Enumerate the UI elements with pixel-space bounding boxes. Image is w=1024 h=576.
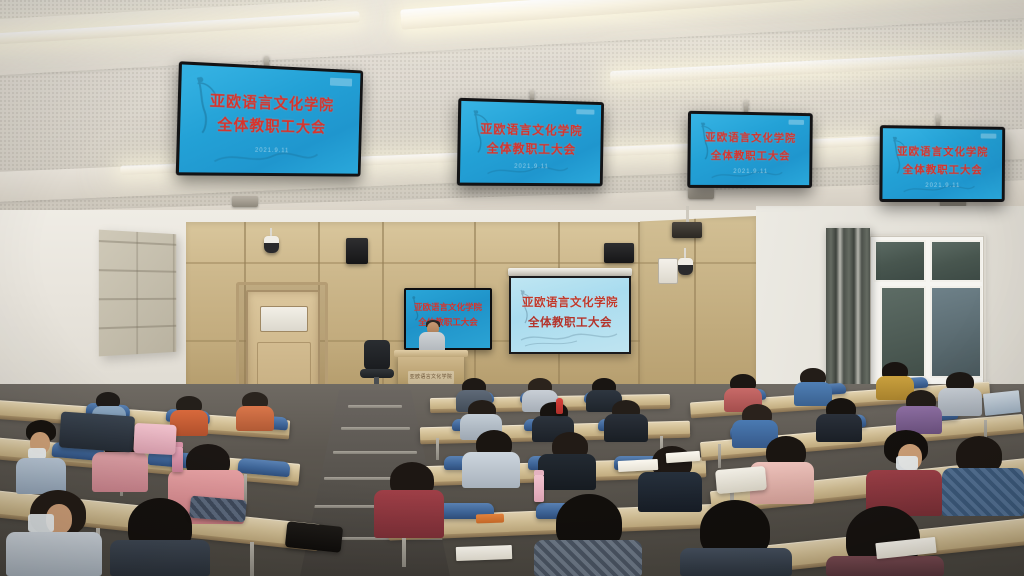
tv-screen-3: 亚欧语言文化学院 全体教职工大会 2021.9.11 xyxy=(687,111,813,188)
ink-wash-decoration-icon xyxy=(190,138,338,171)
tv3-date: 2021.9.11 xyxy=(690,169,809,176)
face-mask xyxy=(28,514,54,532)
laptop[interactable] xyxy=(983,390,1021,416)
projection-screen-housing xyxy=(508,268,632,276)
ceiling-vent-icon xyxy=(232,196,258,207)
tv2-title-line2: 全体教职工大会 xyxy=(460,138,600,157)
tv-logo-badge xyxy=(330,78,352,86)
acoustic-brick-panel xyxy=(99,230,176,357)
podium-monitor-line2: 全体教职工大会 xyxy=(406,316,490,328)
orange-pencil-case[interactable] xyxy=(476,514,504,524)
office-chair[interactable] xyxy=(364,340,390,370)
red-cup[interactable] xyxy=(556,398,563,414)
window-pane xyxy=(930,286,982,378)
white-bag[interactable] xyxy=(715,466,767,494)
door-panel xyxy=(257,342,311,390)
window-pane xyxy=(930,240,982,282)
tv4-title-line2: 全体教职工大会 xyxy=(883,161,1002,177)
projection-title-line2: 全体教职工大会 xyxy=(511,314,629,330)
tv2-title-line1: 亚欧语言文化学院 xyxy=(461,119,601,139)
tv3-title-line2: 全体教职工大会 xyxy=(691,147,810,163)
tv4-title-line1: 亚欧语言文化学院 xyxy=(883,144,1002,160)
tv-screen-2: 亚欧语言文化学院 全体教职工大会 2021.9.11 xyxy=(457,98,604,187)
notebook[interactable] xyxy=(456,545,512,561)
bottle-cap xyxy=(534,470,544,475)
security-camera-icon xyxy=(264,236,279,253)
handbag[interactable] xyxy=(133,423,177,455)
tv-screen-4: 亚欧语言文化学院 全体教职工大会 2021.9.11 xyxy=(879,125,1005,202)
lecture-hall-photo: 亚欧语言文化学院 全体教职工大会 亚欧语言文化学院 全体教职工大会 2021.9… xyxy=(0,0,1024,576)
lectern-top xyxy=(394,350,468,357)
window-pane xyxy=(874,240,926,282)
wall-speaker-icon xyxy=(346,238,368,264)
side-door[interactable] xyxy=(246,290,320,394)
tv-logo-badge xyxy=(577,109,595,115)
backpack[interactable] xyxy=(59,411,135,452)
lectern-emblem: 亚欧语言文化学院 xyxy=(408,371,454,384)
tv-logo-badge xyxy=(981,134,996,139)
podium-monitor-line1: 亚欧语言文化学院 xyxy=(406,301,490,313)
water-bottle[interactable] xyxy=(534,474,544,502)
tv-screen-1: 亚欧语言文化学院 全体教职工大会 2021.9.11 xyxy=(176,61,364,176)
tv1-title-line2: 全体教职工大会 xyxy=(180,112,359,138)
face-mask xyxy=(896,456,918,470)
projection-title-line1: 亚欧语言文化学院 xyxy=(511,294,629,310)
podium-monitor: 亚欧语言文化学院 全体教职工大会 xyxy=(404,288,492,350)
front-wood-wall-right xyxy=(640,216,756,398)
tv1-date: 2021.9.11 xyxy=(179,146,358,155)
tv3-title-line1: 亚欧语言文化学院 xyxy=(691,129,810,146)
projection-screen: 亚欧语言文化学院 全体教职工大会 xyxy=(509,276,631,354)
tv2-date: 2021.9.11 xyxy=(460,163,600,171)
wall-control-box[interactable] xyxy=(658,258,678,284)
ceiling-projector-icon xyxy=(672,222,702,238)
tv4-date: 2021.9.11 xyxy=(882,183,1001,189)
wall-speaker-icon xyxy=(604,243,634,263)
tv-logo-badge xyxy=(789,120,804,125)
door-window xyxy=(260,306,308,332)
tv1-title-line1: 亚欧语言文化学院 xyxy=(181,88,360,115)
ceiling-vent-icon xyxy=(688,188,714,199)
security-camera-icon xyxy=(678,258,693,275)
open-book[interactable] xyxy=(618,459,659,472)
